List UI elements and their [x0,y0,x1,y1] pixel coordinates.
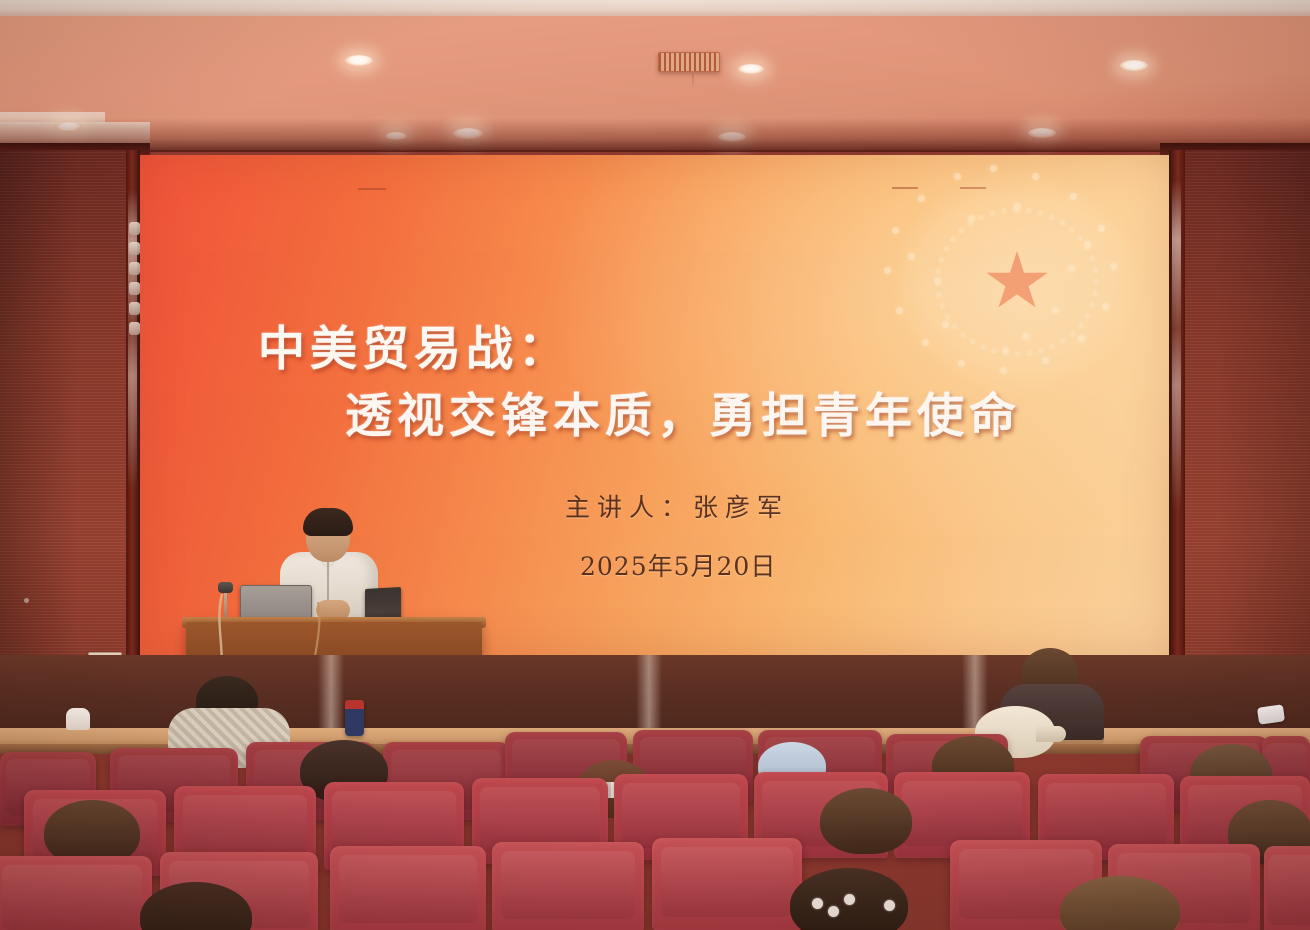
seat[interactable] [652,838,802,930]
ceiling-shadow [0,118,1310,152]
hair-clip [828,906,839,917]
seat[interactable] [492,842,644,930]
screen-artifact-line [358,188,386,190]
presenter-hair [303,508,353,536]
slide-title-line-1: 中美贸易战： [258,310,570,379]
hair-clip [844,894,855,905]
ceiling [0,0,1310,150]
tissue-pack[interactable] [66,708,90,730]
air-vent-grille [658,52,720,72]
audience-cap-brim [1036,726,1066,742]
hair-clip [884,900,895,911]
downlight-icon [345,55,373,66]
slide-title-line-2: 透视交锋本质，勇担青年使命 [345,377,1021,446]
frame-highlight-right [1172,180,1181,510]
seat[interactable] [1264,846,1310,930]
slide-date-line: 2025年5月20日 [580,547,776,583]
hair-clip [812,898,823,909]
ceiling-edge-strip [0,0,1310,16]
vent-hanging-cord [692,71,694,89]
water-bottle[interactable] [345,700,364,736]
seat[interactable] [0,856,152,930]
phone-on-stage[interactable] [1257,704,1285,724]
downlight-icon [1120,60,1148,71]
stage-face-highlight [636,655,662,735]
audience-head [820,788,912,854]
lecture-hall-photo: 中美贸易战： 透视交锋本质，勇担青年使命 主讲人：张彦军 2025年5月20日 [0,0,1310,930]
slide-speaker-line: 主讲人：张彦军 [565,488,789,524]
downlight-icon [738,64,764,74]
national-emblem-star-icon [872,157,1162,407]
stage-face-highlight [318,655,344,735]
screen-edge-markers-left [129,222,140,335]
wall-marker-dot [24,598,29,603]
seat[interactable] [330,846,486,930]
